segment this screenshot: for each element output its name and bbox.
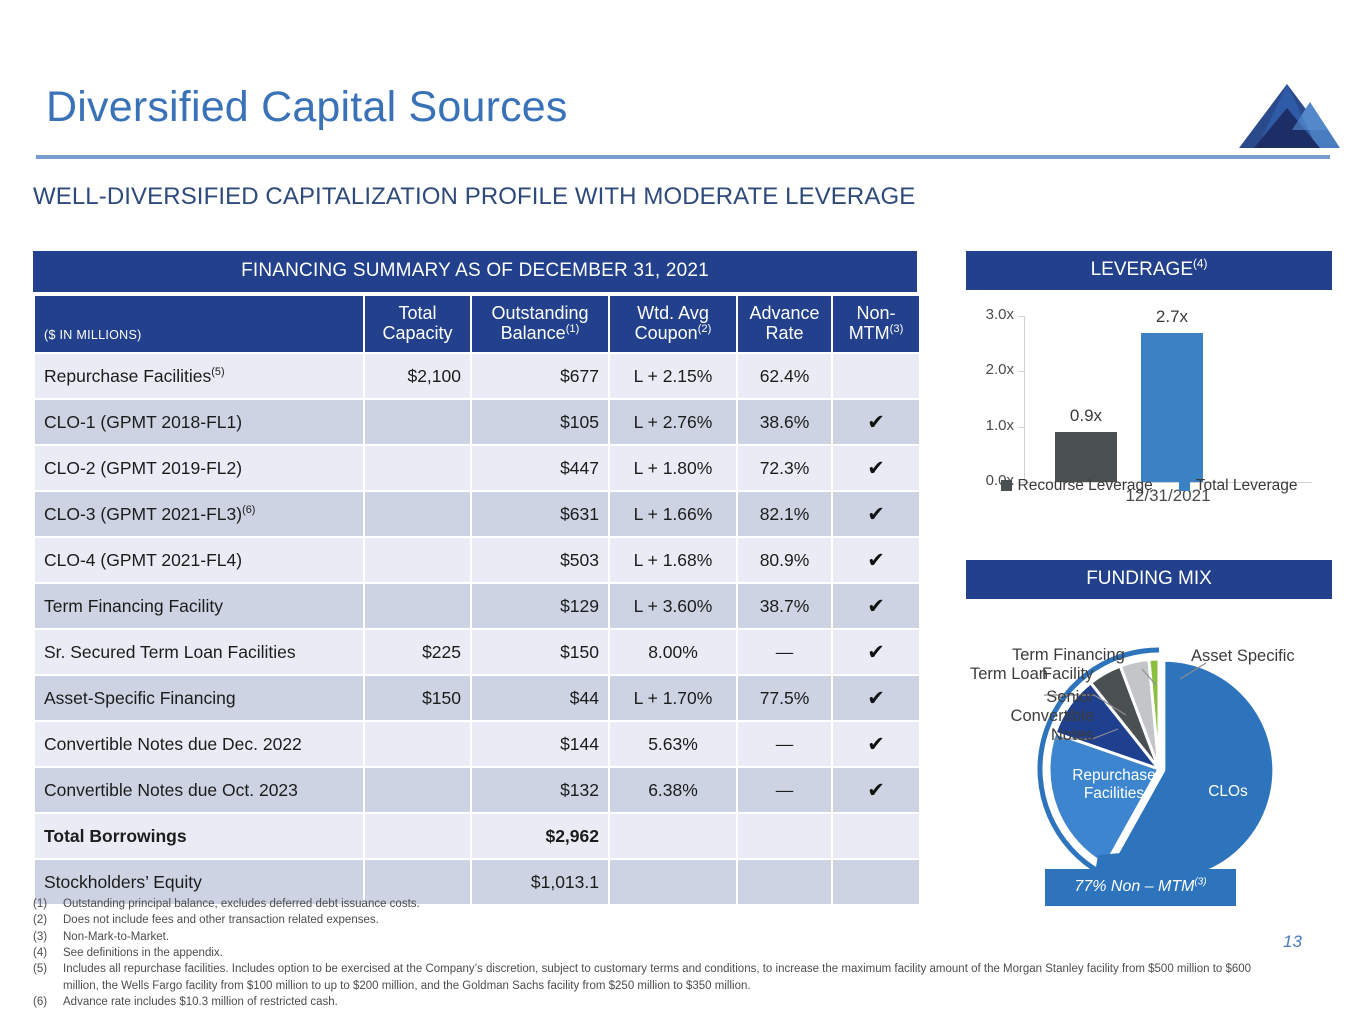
legend-item: Total Leverage: [1179, 477, 1298, 495]
row-label: Term Financing Facility: [35, 584, 363, 628]
footnote: (3)Non-Mark-to-Market.: [33, 929, 1283, 945]
row-total-capacity: [365, 814, 470, 858]
footnote: (4)See definitions in the appendix.: [33, 945, 1283, 961]
y-axis-tick: [1018, 371, 1024, 372]
row-total-capacity: [365, 768, 470, 812]
row-advance-rate: [738, 814, 831, 858]
row-non-mtm-check: ✔: [833, 676, 919, 720]
pie-label-senior-convertible-notes: SeniorConvertibleNotes: [984, 688, 1094, 744]
row-label: Convertible Notes due Oct. 2023: [35, 768, 363, 812]
bar-value-label: 2.7x: [1132, 307, 1212, 327]
row-label: Asset-Specific Financing: [35, 676, 363, 720]
footnote: (5)Includes all repurchase facilities. I…: [33, 961, 1283, 994]
row-outstanding-balance: $129: [472, 584, 608, 628]
row-label: CLO-1 (GPMT 2018-FL1): [35, 400, 363, 444]
page-number: 13: [1283, 932, 1302, 952]
row-total-capacity: [365, 538, 470, 582]
row-label: CLO-2 (GPMT 2019-FL2): [35, 446, 363, 490]
table-row: Asset-Specific Financing$150$44L + 1.70%…: [35, 676, 919, 720]
y-axis-tick-label: 2.0x: [972, 361, 1014, 378]
pie-label-clos: CLOs: [1198, 783, 1258, 801]
row-advance-rate: 38.7%: [738, 584, 831, 628]
row-wtd-avg-coupon: [610, 814, 736, 858]
table-row: CLO-4 (GPMT 2021-FL4)$503L + 1.68%80.9%✔: [35, 538, 919, 582]
check-icon: ✔: [867, 641, 885, 664]
row-non-mtm-check: ✔: [833, 722, 919, 766]
footnote-text: Does not include fees and other transact…: [63, 912, 1283, 928]
row-outstanding-balance: $503: [472, 538, 608, 582]
row-wtd-avg-coupon: 6.38%: [610, 768, 736, 812]
legend-label: Total Leverage: [1196, 477, 1298, 494]
bar-value-label: 0.9x: [1046, 406, 1126, 426]
row-total-capacity: [365, 446, 470, 490]
col-non-mtm: Non-MTM(3): [833, 296, 919, 352]
page-subtitle: WELL-DIVERSIFIED CAPITALIZATION PROFILE …: [33, 183, 915, 211]
row-outstanding-balance: $2,962: [472, 814, 608, 858]
col-advance-rate: AdvanceRate: [738, 296, 831, 352]
check-icon: ✔: [867, 779, 885, 802]
check-icon: ✔: [867, 457, 885, 480]
row-total-capacity: [365, 722, 470, 766]
table-header-row: ($ IN MILLIONS) TotalCapacity Outstandin…: [35, 296, 919, 352]
row-wtd-avg-coupon: L + 1.80%: [610, 446, 736, 490]
pie-label-term-loan: Term Loan: [970, 665, 1048, 684]
row-label: Total Borrowings: [35, 814, 363, 858]
footnote: (2)Does not include fees and other trans…: [33, 912, 1283, 928]
row-outstanding-balance: $150: [472, 630, 608, 674]
legend-swatch: [1179, 480, 1190, 491]
footnote-text: Non-Mark-to-Market.: [63, 929, 1283, 945]
table-row: CLO-2 (GPMT 2019-FL2)$447L + 1.80%72.3%✔: [35, 446, 919, 490]
footnote: (6)Advance rate includes $10.3 million o…: [33, 994, 1283, 1010]
col-outstanding-balance: OutstandingBalance(1): [472, 296, 608, 352]
non-mtm-callout: 77% Non – MTM(3): [1045, 869, 1236, 906]
bar-total-leverage: [1141, 333, 1203, 482]
row-wtd-avg-coupon: 5.63%: [610, 722, 736, 766]
row-advance-rate: —: [738, 722, 831, 766]
row-advance-rate: 62.4%: [738, 354, 831, 398]
funding-mix-title: FUNDING MIX: [966, 560, 1332, 599]
row-outstanding-balance: $631: [472, 492, 608, 536]
table-row: Total Borrowings$2,962: [35, 814, 919, 858]
page-title: Diversified Capital Sources: [46, 83, 568, 132]
footnote-text: See definitions in the appendix.: [63, 945, 1283, 961]
footnote-marker: (3): [33, 929, 63, 945]
row-advance-rate: 77.5%: [738, 676, 831, 720]
row-advance-rate: —: [738, 768, 831, 812]
row-non-mtm-check: ✔: [833, 400, 919, 444]
row-label: CLO-4 (GPMT 2021-FL4): [35, 538, 363, 582]
financing-summary-table: FINANCING SUMMARY AS OF DECEMBER 31, 202…: [33, 251, 917, 906]
row-advance-rate: 82.1%: [738, 492, 831, 536]
row-advance-rate: 72.3%: [738, 446, 831, 490]
footnote-text: Includes all repurchase facilities. Incl…: [63, 961, 1283, 994]
col-total-capacity: TotalCapacity: [365, 296, 470, 352]
table-row: Sr. Secured Term Loan Facilities$225$150…: [35, 630, 919, 674]
row-outstanding-balance: $132: [472, 768, 608, 812]
leverage-chart-title: LEVERAGE(4): [966, 251, 1332, 290]
legend-label: Recourse Leverage: [1018, 477, 1153, 494]
row-label: Sr. Secured Term Loan Facilities: [35, 630, 363, 674]
row-wtd-avg-coupon: L + 3.60%: [610, 584, 736, 628]
row-non-mtm-check: [833, 354, 919, 398]
row-advance-rate: 38.6%: [738, 400, 831, 444]
row-total-capacity: $150: [365, 676, 470, 720]
row-outstanding-balance: $144: [472, 722, 608, 766]
table-title: FINANCING SUMMARY AS OF DECEMBER 31, 202…: [33, 251, 917, 292]
table-row: CLO-3 (GPMT 2021-FL3)(6)$631L + 1.66%82.…: [35, 492, 919, 536]
row-outstanding-balance: $105: [472, 400, 608, 444]
check-icon: ✔: [867, 503, 885, 526]
col-unit-label: ($ IN MILLIONS): [35, 296, 363, 352]
leverage-legend: Recourse LeverageTotal Leverage: [966, 477, 1332, 495]
table-row: Convertible Notes due Oct. 2023$1326.38%…: [35, 768, 919, 812]
footnote-marker: (2): [33, 912, 63, 928]
y-axis-tick: [1018, 427, 1024, 428]
row-total-capacity: [365, 400, 470, 444]
y-axis-tick-label: 3.0x: [972, 306, 1014, 323]
check-icon: ✔: [867, 687, 885, 710]
pie-label-repurchase-facilities: RepurchaseFacilities: [1059, 767, 1169, 803]
col-wtd-avg-coupon: Wtd. AvgCoupon(2): [610, 296, 736, 352]
check-icon: ✔: [867, 411, 885, 434]
bar-recourse-leverage: [1055, 432, 1117, 482]
footnote-marker: (4): [33, 945, 63, 961]
header-divider: [36, 155, 1330, 159]
row-advance-rate: —: [738, 630, 831, 674]
leverage-chart-panel: LEVERAGE(4) 0.0x1.0x2.0x3.0x0.9x2.7x12/3…: [966, 251, 1332, 519]
y-axis-tick: [1018, 316, 1024, 317]
row-total-capacity: [365, 492, 470, 536]
y-axis-tick-label: 1.0x: [972, 417, 1014, 434]
row-wtd-avg-coupon: L + 1.70%: [610, 676, 736, 720]
row-wtd-avg-coupon: L + 1.66%: [610, 492, 736, 536]
row-non-mtm-check: ✔: [833, 538, 919, 582]
row-non-mtm-check: ✔: [833, 446, 919, 490]
row-wtd-avg-coupon: L + 1.68%: [610, 538, 736, 582]
row-total-capacity: [365, 584, 470, 628]
row-non-mtm-check: [833, 814, 919, 858]
row-label: Repurchase Facilities(5): [35, 354, 363, 398]
row-label: Convertible Notes due Dec. 2022: [35, 722, 363, 766]
row-non-mtm-check: ✔: [833, 768, 919, 812]
pie-label-asset-specific: Asset Specific: [1191, 647, 1295, 666]
row-label: CLO-3 (GPMT 2021-FL3)(6): [35, 492, 363, 536]
row-outstanding-balance: $677: [472, 354, 608, 398]
row-non-mtm-check: ✔: [833, 630, 919, 674]
check-icon: ✔: [867, 549, 885, 572]
table-row: CLO-1 (GPMT 2018-FL1)$105L + 2.76%38.6%✔: [35, 400, 919, 444]
mountain-logo: [1232, 82, 1342, 152]
table-row: Repurchase Facilities(5)$2,100$677L + 2.…: [35, 354, 919, 398]
footnotes: (1)Outstanding principal balance, exclud…: [33, 896, 1283, 1010]
footnote-marker: (1): [33, 896, 63, 912]
footnote-marker: (6): [33, 994, 63, 1010]
row-non-mtm-check: ✔: [833, 584, 919, 628]
row-outstanding-balance: $447: [472, 446, 608, 490]
funding-mix-pie: Term FinancingFacility Term Loan SeniorC…: [966, 599, 1332, 899]
row-wtd-avg-coupon: L + 2.76%: [610, 400, 736, 444]
slide-root: Diversified Capital Sources WELL-DIVERSI…: [0, 0, 1365, 1024]
y-axis-line: [1024, 316, 1025, 482]
row-outstanding-balance: $44: [472, 676, 608, 720]
row-wtd-avg-coupon: 8.00%: [610, 630, 736, 674]
legend-swatch: [1001, 480, 1012, 491]
table-row: Term Financing Facility$129L + 3.60%38.7…: [35, 584, 919, 628]
row-total-capacity: $2,100: [365, 354, 470, 398]
funding-mix-panel: FUNDING MIX Term FinancingFacility Term …: [966, 560, 1332, 899]
check-icon: ✔: [867, 733, 885, 756]
footnote-marker: (5): [33, 961, 63, 994]
check-icon: ✔: [867, 595, 885, 618]
row-wtd-avg-coupon: L + 2.15%: [610, 354, 736, 398]
legend-item: Recourse Leverage: [1001, 477, 1153, 495]
footnote-text: Advance rate includes $10.3 million of r…: [63, 994, 1283, 1010]
row-non-mtm-check: ✔: [833, 492, 919, 536]
row-advance-rate: 80.9%: [738, 538, 831, 582]
row-total-capacity: $225: [365, 630, 470, 674]
table-row: Convertible Notes due Dec. 2022$1445.63%…: [35, 722, 919, 766]
